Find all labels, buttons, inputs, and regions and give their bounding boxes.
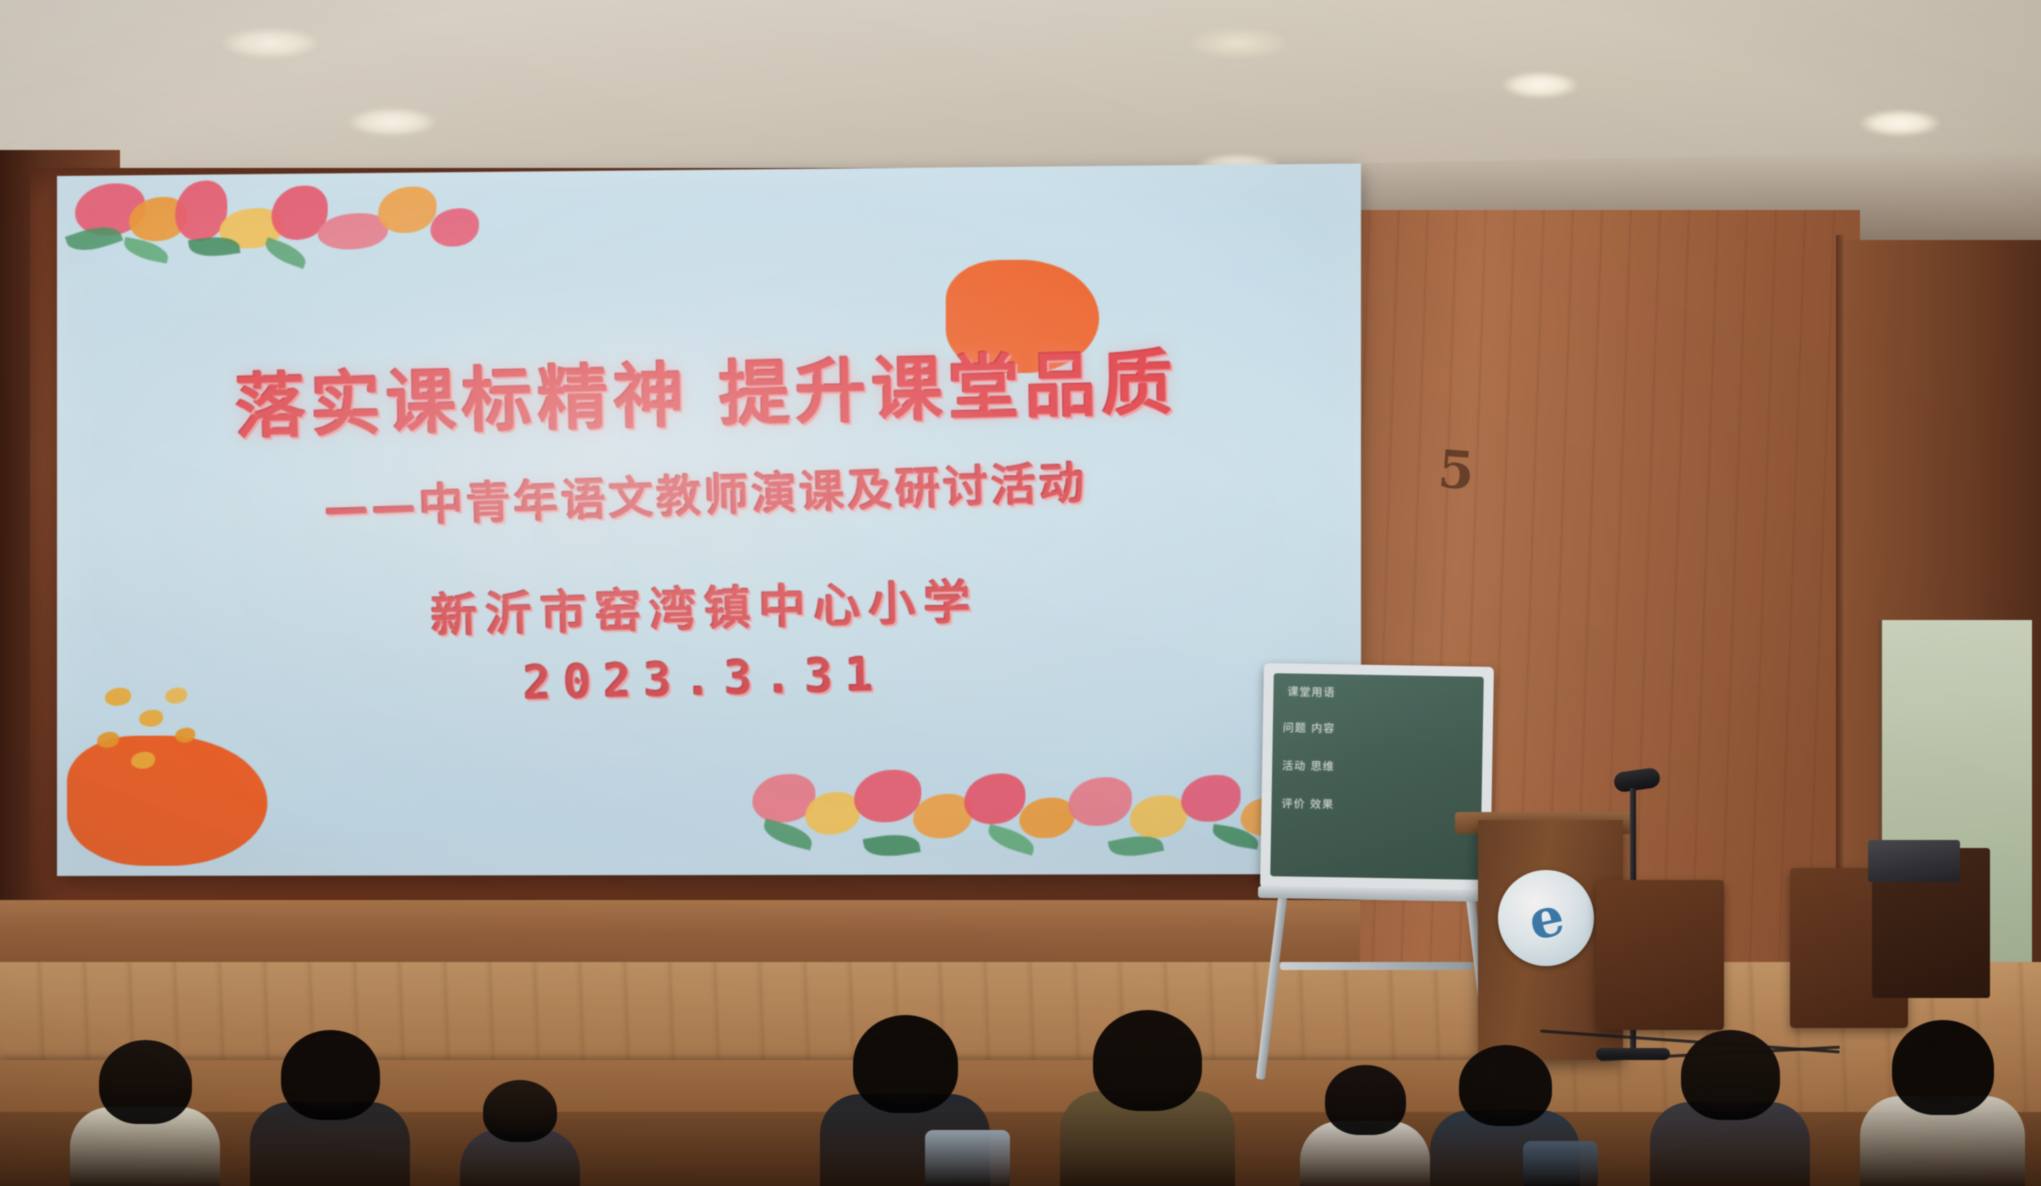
slide-text-block: 落实课标精神 提升课堂品质 ——中青年语文教师演课及研讨活动 新沂市窑湾镇中心小… bbox=[57, 163, 1361, 876]
chalk-line-1: 课堂用语 bbox=[1287, 685, 1335, 701]
auditorium-photo: 5 落实课标精神 提升课堂品质 ——中青年语文教师演课及研讨活动 新沂市窑湾镇中… bbox=[0, 0, 2041, 1186]
audience-bench-row bbox=[0, 1112, 2041, 1186]
chalk-line-2: 问题 内容 bbox=[1283, 721, 1336, 737]
podium-logo: e bbox=[1498, 870, 1594, 966]
speaker-box bbox=[1868, 840, 1960, 882]
projection-screen: 落实课标精神 提升课堂品质 ——中青年语文教师演课及研讨活动 新沂市窑湾镇中心小… bbox=[57, 163, 1361, 876]
slide-title: 落实课标精神 提升课堂品质 bbox=[57, 322, 1361, 458]
ceiling-downlight-icon bbox=[1190, 28, 1286, 58]
podium-logo-mark: e bbox=[1523, 883, 1570, 953]
wall-marking: 5 bbox=[1436, 439, 1476, 502]
easel-crossbar bbox=[1280, 962, 1472, 970]
ceiling-downlight-icon bbox=[1502, 72, 1578, 98]
ceiling-downlight-icon bbox=[348, 108, 436, 136]
slide-subtitle: ——中青年语文教师演课及研讨活动 bbox=[57, 438, 1361, 546]
ceiling-downlight-icon bbox=[1860, 110, 1940, 136]
blackboard-surface: 课堂用语 问题 内容 活动 思维 评价 效果 bbox=[1270, 673, 1484, 880]
ceiling-downlight-icon bbox=[222, 28, 318, 58]
side-chair-1[interactable] bbox=[1596, 880, 1724, 1030]
stage-step bbox=[0, 1060, 1500, 1112]
blackboard[interactable]: 课堂用语 问题 内容 活动 思维 评价 效果 bbox=[1260, 663, 1494, 892]
chalk-line-4: 评价 效果 bbox=[1281, 797, 1334, 813]
chalk-line-3: 活动 思维 bbox=[1282, 759, 1335, 775]
